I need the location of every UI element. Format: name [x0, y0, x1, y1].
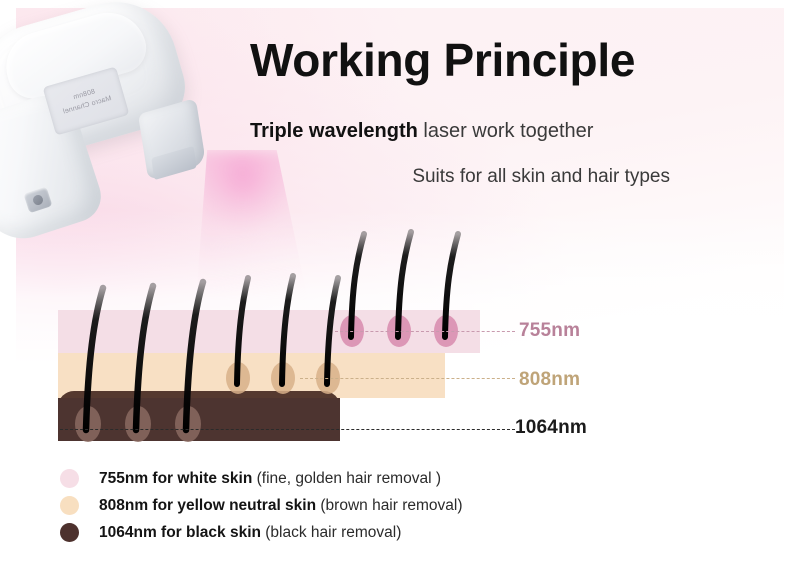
- infographic-canvas: 808nm Macro Channel Working Principle Tr…: [0, 0, 800, 562]
- legend-note-808nm: (brown hair removal): [316, 497, 462, 514]
- legend-text-755nm: 755nm for white skin (fine, golden hair …: [99, 470, 441, 488]
- leader-line-1064nm: [60, 429, 515, 430]
- leader-line-755nm: [335, 331, 515, 332]
- legend-swatch-808nm: [60, 496, 79, 515]
- leader-line-808nm: [300, 378, 515, 379]
- hair-group-1064nm: [75, 282, 203, 442]
- legend: 755nm for white skin (fine, golden hair …: [60, 465, 580, 546]
- legend-item-1064nm: 1064nm for black skin (black hair remova…: [60, 519, 580, 546]
- legend-note-1064nm: (black hair removal): [261, 524, 401, 541]
- wavelength-label-808nm: 808nm: [519, 369, 580, 391]
- legend-text-808nm: 808nm for yellow neutral skin (brown hai…: [99, 497, 463, 515]
- legend-bold-1064nm: 1064nm for black skin: [99, 524, 261, 541]
- legend-note-755nm: (fine, golden hair removal ): [252, 470, 441, 487]
- wavelength-label-1064nm: 1064nm: [515, 417, 587, 439]
- legend-bold-755nm: 755nm for white skin: [99, 470, 252, 487]
- legend-swatch-755nm: [60, 469, 79, 488]
- wavelength-label-755nm: 755nm: [519, 320, 580, 342]
- legend-text-1064nm: 1064nm for black skin (black hair remova…: [99, 524, 401, 542]
- hair-group-808nm: [226, 276, 340, 394]
- legend-bold-808nm: 808nm for yellow neutral skin: [99, 497, 316, 514]
- legend-item-755nm: 755nm for white skin (fine, golden hair …: [60, 465, 580, 492]
- legend-swatch-1064nm: [60, 523, 79, 542]
- hair-group-755nm: [340, 232, 458, 347]
- legend-item-808nm: 808nm for yellow neutral skin (brown hai…: [60, 492, 580, 519]
